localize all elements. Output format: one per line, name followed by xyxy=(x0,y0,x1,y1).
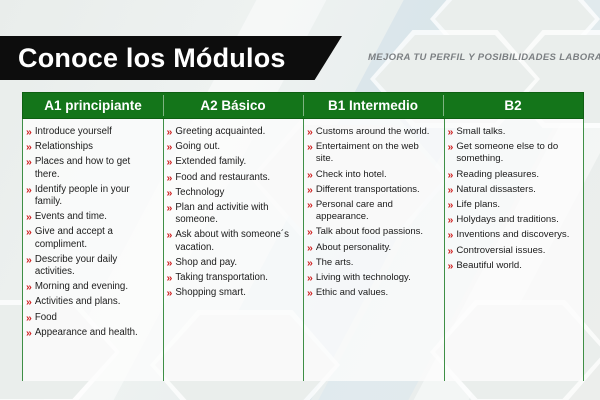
chevron-double-right-icon: » xyxy=(26,141,32,153)
module-column-b2: »Small talks.»Get someone else to do som… xyxy=(444,119,585,381)
chevron-double-right-icon: » xyxy=(26,281,32,293)
list-item-label: Customs around the world. xyxy=(316,126,430,138)
list-item-label: Extended family. xyxy=(175,156,246,168)
list-item: »Talk about food passions. xyxy=(307,226,437,238)
column-header-label: B1 Intermedio xyxy=(328,98,418,113)
list-item-label: Identify people in your family. xyxy=(35,184,156,208)
column-header-label: A1 principiante xyxy=(44,98,142,113)
list-item: »Appearance and health. xyxy=(26,327,156,339)
chevron-double-right-icon: » xyxy=(448,214,454,226)
chevron-double-right-icon: » xyxy=(26,156,32,168)
chevron-double-right-icon: » xyxy=(167,272,173,284)
chevron-double-right-icon: » xyxy=(448,245,454,257)
list-item-label: About personality. xyxy=(316,242,391,254)
list-item-label: Taking transportation. xyxy=(175,272,268,284)
list-item-label: Appearance and health. xyxy=(35,327,138,339)
chevron-double-right-icon: » xyxy=(307,141,313,153)
list-item: »Technology xyxy=(167,187,297,199)
list-item-label: Check into hotel. xyxy=(316,169,387,181)
chevron-double-right-icon: » xyxy=(26,254,32,266)
chevron-double-right-icon: » xyxy=(167,126,173,138)
list-item-label: Relationships xyxy=(35,141,93,153)
list-item: »Morning and evening. xyxy=(26,281,156,293)
list-item: »Shopping smart. xyxy=(167,287,297,299)
list-item: »Inventions and discoverys. xyxy=(448,229,578,241)
chevron-double-right-icon: » xyxy=(26,296,32,308)
list-item-label: Living with technology. xyxy=(316,272,411,284)
list-item: »Life plans. xyxy=(448,199,578,211)
list-item: »About personality. xyxy=(307,242,437,254)
list-item: »Give and accept a compliment. xyxy=(26,226,156,250)
chevron-double-right-icon: » xyxy=(307,272,313,284)
list-item: »Natural dissasters. xyxy=(448,184,578,196)
list-item: »Identify people in your family. xyxy=(26,184,156,208)
list-item-label: Entertaiment on the web site. xyxy=(316,141,437,165)
list-item-label: Controversial issues. xyxy=(456,245,545,257)
chevron-double-right-icon: » xyxy=(167,287,173,299)
chevron-double-right-icon: » xyxy=(167,141,173,153)
column-header-label: A2 Básico xyxy=(200,98,265,113)
chevron-double-right-icon: » xyxy=(26,126,32,138)
chevron-double-right-icon: » xyxy=(26,327,32,339)
column-header-b1: B1 Intermedio xyxy=(303,93,443,118)
list-item-label: Food and restaurants. xyxy=(175,172,270,184)
list-item: »Reading pleasures. xyxy=(448,169,578,181)
modules-table: A1 principiante A2 Básico B1 Intermedio … xyxy=(22,92,584,381)
list-item-label: Inventions and discoverys. xyxy=(456,229,569,241)
list-item: »Holydays and traditions. xyxy=(448,214,578,226)
chevron-double-right-icon: » xyxy=(307,287,313,299)
chevron-double-right-icon: » xyxy=(448,199,454,211)
column-header-b2: B2 xyxy=(443,93,583,118)
list-item: »Food and restaurants. xyxy=(167,172,297,184)
chevron-double-right-icon: » xyxy=(167,257,173,269)
table-body-row: »Introduce yourself»Relationships»Places… xyxy=(22,119,584,381)
chevron-double-right-icon: » xyxy=(307,126,313,138)
module-column-a2: »Greeting acquainted.»Going out.»Extende… xyxy=(163,119,304,381)
list-item-label: Places and how to get there. xyxy=(35,156,156,180)
list-item-label: Holydays and traditions. xyxy=(456,214,558,226)
module-column-a1: »Introduce yourself»Relationships»Places… xyxy=(22,119,163,381)
chevron-double-right-icon: » xyxy=(448,169,454,181)
module-column-b1: »Customs around the world.»Entertaiment … xyxy=(303,119,444,381)
chevron-double-right-icon: » xyxy=(307,199,313,211)
chevron-double-right-icon: » xyxy=(167,187,173,199)
chevron-double-right-icon: » xyxy=(26,184,32,196)
list-item: »Activities and plans. xyxy=(26,296,156,308)
chevron-double-right-icon: » xyxy=(167,172,173,184)
page-subtitle: MEJORA TU PERFIL Y POSIBILIDADES LABORAL… xyxy=(368,52,600,63)
list-item-label: Shop and pay. xyxy=(175,257,237,269)
page-title: Conoce los Módulos xyxy=(0,43,286,74)
title-banner: Conoce los Módulos xyxy=(0,36,342,80)
list-item: »Living with technology. xyxy=(307,272,437,284)
list-item: »The arts. xyxy=(307,257,437,269)
chevron-double-right-icon: » xyxy=(448,141,454,153)
list-item-label: Beautiful world. xyxy=(456,260,522,272)
list-item: »Ethic and values. xyxy=(307,287,437,299)
chevron-double-right-icon: » xyxy=(448,126,454,138)
chevron-double-right-icon: » xyxy=(307,226,313,238)
list-item: »Shop and pay. xyxy=(167,257,297,269)
list-item: »Controversial issues. xyxy=(448,245,578,257)
list-item-label: Ethic and values. xyxy=(316,287,388,299)
list-item-label: Describe your daily activities. xyxy=(35,254,156,278)
column-header-a1: A1 principiante xyxy=(23,93,163,118)
list-item: »Relationships xyxy=(26,141,156,153)
chevron-double-right-icon: » xyxy=(307,257,313,269)
list-item: »Customs around the world. xyxy=(307,126,437,138)
chevron-double-right-icon: » xyxy=(448,260,454,272)
list-item: »Events and time. xyxy=(26,211,156,223)
column-header-label: B2 xyxy=(504,98,521,113)
chevron-double-right-icon: » xyxy=(307,184,313,196)
list-item: »Ask about with someone´s vacation. xyxy=(167,229,297,253)
list-item-label: Plan and activitie with someone. xyxy=(175,202,296,226)
list-item: »Personal care and appearance. xyxy=(307,199,437,223)
list-item: »Introduce yourself xyxy=(26,126,156,138)
list-item: »Places and how to get there. xyxy=(26,156,156,180)
list-item: »Extended family. xyxy=(167,156,297,168)
list-item: »Beautiful world. xyxy=(448,260,578,272)
list-item-label: Activities and plans. xyxy=(35,296,121,308)
list-item: »Plan and activitie with someone. xyxy=(167,202,297,226)
list-item-label: Greeting acquainted. xyxy=(175,126,265,138)
chevron-double-right-icon: » xyxy=(26,226,32,238)
list-item-label: Going out. xyxy=(175,141,220,153)
chevron-double-right-icon: » xyxy=(167,156,173,168)
list-item-label: Food xyxy=(35,312,57,324)
list-item: »Greeting acquainted. xyxy=(167,126,297,138)
list-item: »Check into hotel. xyxy=(307,169,437,181)
list-item: »Different transportations. xyxy=(307,184,437,196)
list-item: »Going out. xyxy=(167,141,297,153)
list-item: »Get someone else to do something. xyxy=(448,141,578,165)
list-item-label: Small talks. xyxy=(456,126,505,138)
list-item-label: Talk about food passions. xyxy=(316,226,423,238)
chevron-double-right-icon: » xyxy=(307,169,313,181)
list-item-label: Different transportations. xyxy=(316,184,420,196)
table-header-row: A1 principiante A2 Básico B1 Intermedio … xyxy=(22,92,584,119)
list-item: »Food xyxy=(26,312,156,324)
list-item-label: Reading pleasures. xyxy=(456,169,539,181)
list-item-label: Ask about with someone´s vacation. xyxy=(175,229,296,253)
list-item-label: The arts. xyxy=(316,257,354,269)
list-item: »Entertaiment on the web site. xyxy=(307,141,437,165)
chevron-double-right-icon: » xyxy=(26,312,32,324)
chevron-double-right-icon: » xyxy=(167,229,173,241)
list-item-label: Personal care and appearance. xyxy=(316,199,437,223)
column-header-a2: A2 Básico xyxy=(163,93,303,118)
chevron-double-right-icon: » xyxy=(167,202,173,214)
list-item-label: Get someone else to do something. xyxy=(456,141,577,165)
list-item-label: Technology xyxy=(175,187,224,199)
list-item-label: Shopping smart. xyxy=(175,287,246,299)
list-item-label: Life plans. xyxy=(456,199,500,211)
list-item: »Describe your daily activities. xyxy=(26,254,156,278)
list-item-label: Events and time. xyxy=(35,211,107,223)
list-item-label: Give and accept a compliment. xyxy=(35,226,156,250)
list-item: »Taking transportation. xyxy=(167,272,297,284)
list-item-label: Natural dissasters. xyxy=(456,184,535,196)
list-item-label: Introduce yourself xyxy=(35,126,112,138)
chevron-double-right-icon: » xyxy=(26,211,32,223)
chevron-double-right-icon: » xyxy=(448,229,454,241)
list-item: »Small talks. xyxy=(448,126,578,138)
list-item-label: Morning and evening. xyxy=(35,281,128,293)
chevron-double-right-icon: » xyxy=(307,242,313,254)
chevron-double-right-icon: » xyxy=(448,184,454,196)
